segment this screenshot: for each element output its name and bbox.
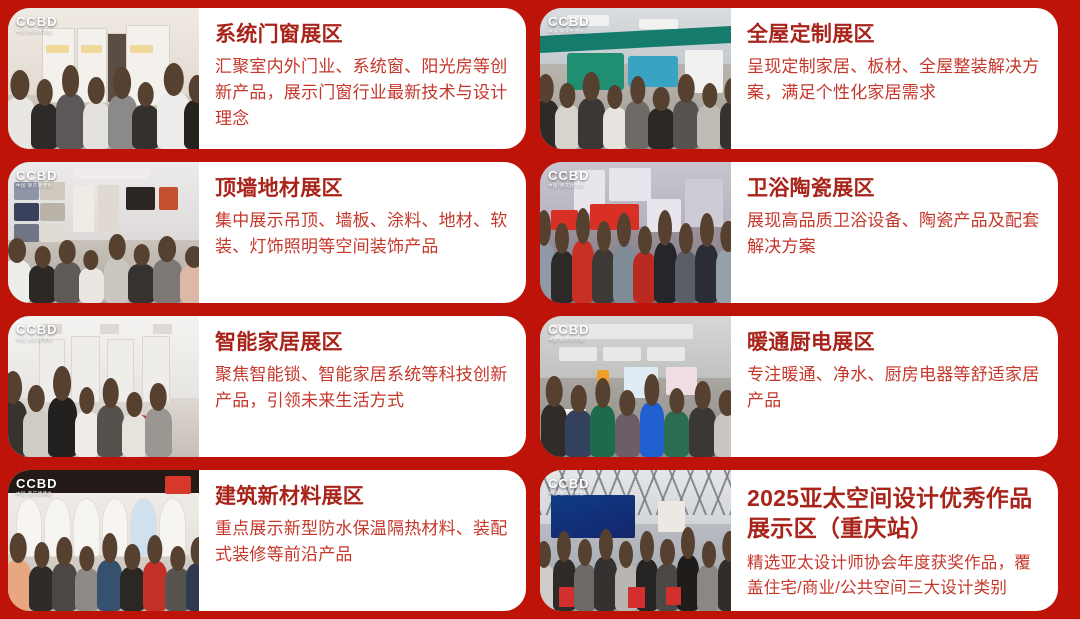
zone-title: 智能家居展区 <box>215 330 508 356</box>
red-tote-bag <box>666 587 681 605</box>
booth-photo-doors-windows: CCBD中国·重庆建博会 <box>8 8 199 149</box>
zone-text-smart-home: 智能家居展区 聚焦智能锁、智能家居系统等科技创新产品，引领未来生活方式 <box>199 316 526 457</box>
product-info-panel <box>603 347 641 361</box>
zone-thumbnail-smart-home: CCBD中国·重庆建博会 <box>8 316 199 457</box>
exhibition-zones-grid: CCBD中国·重庆建博会 系统门窗展区 汇聚室内外门业、系统窗、阳光房等创新产品… <box>0 0 1080 619</box>
zone-title: 建筑新材料展区 <box>215 484 508 510</box>
zone-title: 暖通厨电展区 <box>747 330 1040 356</box>
standing-banner <box>658 501 685 532</box>
signage-tag <box>46 45 69 53</box>
zone-text-new-building-materials: 建筑新材料展区 重点展示新型防水保温隔热材料、装配式装修等前沿产品 <box>199 470 526 611</box>
ccbd-watermark-logo: CCBD中国·重庆建博会 <box>548 477 590 497</box>
zone-title: 系统门窗展区 <box>215 22 508 48</box>
zone-description: 精选亚太设计师协会年度获奖作品，覆盖住宅/商业/公共空间三大设计类别 <box>747 551 1040 601</box>
zone-text-asia-pacific-design-awards: 2025亚太空间设计优秀作品展示区（重庆站） 精选亚太设计师协会年度获奖作品，覆… <box>731 470 1058 611</box>
red-tote-bag <box>559 587 574 607</box>
booth-sign <box>73 168 149 179</box>
zone-text-systems-doors-windows: 系统门窗展区 汇聚室内外门业、系统窗、阳光房等创新产品，展示门窗行业最新技术与设… <box>199 8 526 149</box>
zone-thumbnail-sanitary-ware-ceramics: CCBD中国·重庆建博会 <box>540 162 731 303</box>
booth-photo-new-materials: CCBD中国·重庆建博会 <box>8 470 199 611</box>
zone-card-systems-doors-windows[interactable]: CCBD中国·重庆建博会 系统门窗展区 汇聚室内外门业、系统窗、阳光房等创新产品… <box>8 8 526 149</box>
sample-swatch <box>159 187 178 210</box>
zone-card-asia-pacific-design-awards-2025[interactable]: CCBD中国·重庆建博会 2025亚太空间设计优秀作品展示区（重庆站） 精选亚太… <box>540 470 1058 611</box>
zone-description: 重点展示新型防水保温隔热材料、装配式装修等前沿产品 <box>215 516 508 568</box>
visitor-crowd <box>8 538 199 611</box>
zone-card-new-building-materials[interactable]: CCBD中国·重庆建博会 建筑新材料展区 重点展示新型防水保温隔热材料、装配式装… <box>8 470 526 611</box>
zone-thumbnail-asia-pacific-design-awards: CCBD中国·重庆建博会 <box>540 470 731 611</box>
zone-text-ceiling-wall-floor-materials: 顶墙地材展区 集中展示吊顶、墙板、涂料、地材、软装、灯饰照明等空间装饰产品 <box>199 162 526 303</box>
booth-photo-smart-home: CCBD中国·重庆建博会 <box>8 316 199 457</box>
ccbd-watermark-logo: CCBD中国·重庆建博会 <box>16 477 58 497</box>
sample-board <box>73 185 94 233</box>
zone-thumbnail-ceiling-wall-floor-materials: CCBD中国·重庆建博会 <box>8 162 199 303</box>
zone-text-hvac-kitchen-appliances: 暖通厨电展区 专注暖通、净水、厨房电器等舒适家居产品 <box>731 316 1058 457</box>
booth-wall-panel <box>609 168 651 202</box>
visitor-crowd <box>8 238 199 303</box>
booth-photo-materials: CCBD中国·重庆建博会 <box>8 162 199 303</box>
visitor-crowd <box>8 70 199 149</box>
ccbd-watermark-logo: CCBD中国·重庆建博会 <box>16 169 58 189</box>
ccbd-watermark-logo: CCBD中国·重庆建博会 <box>548 323 590 343</box>
zone-title: 全屋定制展区 <box>747 22 1040 48</box>
zone-title: 顶墙地材展区 <box>215 176 508 202</box>
booth-photo-sanitary: CCBD中国·重庆建博会 <box>540 162 731 303</box>
zone-card-smart-home[interactable]: CCBD中国·重庆建博会 智能家居展区 聚焦智能锁、智能家居系统等科技创新产品，… <box>8 316 526 457</box>
signage-tag <box>130 45 153 53</box>
zone-title: 2025亚太空间设计优秀作品展示区（重庆站） <box>747 484 1040 544</box>
red-tote-bag <box>628 587 645 608</box>
zone-description: 汇聚室内外门业、系统窗、阳光房等创新产品，展示门窗行业最新技术与设计理念 <box>215 54 508 131</box>
booth-sign <box>153 324 172 333</box>
zone-thumbnail-hvac-kitchen-appliances: CCBD中国·重庆建博会 <box>540 316 731 457</box>
booth-sign <box>100 324 119 333</box>
product-info-panel <box>559 347 597 361</box>
ccbd-watermark-logo: CCBD中国·重庆建博会 <box>16 15 58 35</box>
zone-description: 集中展示吊顶、墙板、涂料、地材、软装、灯饰照明等空间装饰产品 <box>215 208 508 260</box>
zone-description: 专注暖通、净水、厨房电器等舒适家居产品 <box>747 362 1040 414</box>
ccbd-watermark-logo: CCBD中国·重庆建博会 <box>16 323 58 343</box>
sample-swatch <box>40 203 65 221</box>
zone-card-ceiling-wall-floor-materials[interactable]: CCBD中国·重庆建博会 顶墙地材展区 集中展示吊顶、墙板、涂料、地材、软装、灯… <box>8 162 526 303</box>
visitor-crowd <box>540 381 731 457</box>
zone-thumbnail-whole-house-customization: CCBD中国·重庆建博会 <box>540 8 731 149</box>
booth-photo-hvac: CCBD中国·重庆建博会 <box>540 316 731 457</box>
zone-card-sanitary-ware-ceramics[interactable]: CCBD中国·重庆建博会 卫浴陶瓷展区 展现高品质卫浴设备、陶瓷产品及配套解决方… <box>540 162 1058 303</box>
zone-text-sanitary-ware-ceramics: 卫浴陶瓷展区 展现高品质卫浴设备、陶瓷产品及配套解决方案 <box>731 162 1058 303</box>
visitor-crowd <box>540 79 731 150</box>
red-banner <box>165 476 192 494</box>
zone-description: 展现高品质卫浴设备、陶瓷产品及配套解决方案 <box>747 208 1040 260</box>
display-screen <box>126 187 155 210</box>
booth-sign <box>639 19 677 29</box>
visitor-crowd <box>8 378 199 457</box>
zone-thumbnail-new-building-materials: CCBD中国·重庆建博会 <box>8 470 199 611</box>
forum-photo-design-awards: CCBD中国·重庆建博会 <box>540 470 731 611</box>
signage-tag <box>81 45 102 53</box>
booth-photo-whole-house: CCBD中国·重庆建博会 <box>540 8 731 149</box>
zone-text-whole-house-customization: 全屋定制展区 呈现定制家居、板材、全屋整装解决方案，满足个性化家居需求 <box>731 8 1058 149</box>
zone-card-hvac-kitchen-appliances[interactable]: CCBD中国·重庆建博会 暖通厨电展区 专注暖通、净水、厨房电器等舒适家居产品 <box>540 316 1058 457</box>
visitor-crowd <box>540 218 731 303</box>
zone-thumbnail-systems-doors-windows: CCBD中国·重庆建博会 <box>8 8 199 149</box>
product-info-panel <box>647 347 685 361</box>
zone-description: 呈现定制家居、板材、全屋整装解决方案，满足个性化家居需求 <box>747 54 1040 106</box>
ccbd-watermark-logo: CCBD中国·重庆建博会 <box>548 15 590 35</box>
zone-description: 聚焦智能锁、智能家居系统等科技创新产品，引领未来生活方式 <box>215 362 508 414</box>
ccbd-watermark-logo: CCBD中国·重庆建博会 <box>548 169 590 189</box>
zone-title: 卫浴陶瓷展区 <box>747 176 1040 202</box>
sample-board <box>98 185 119 233</box>
sample-swatch <box>14 203 39 221</box>
zone-card-whole-house-customization[interactable]: CCBD中国·重庆建博会 全屋定制展区 呈现定制家居、板材、全屋整装解决方案，满… <box>540 8 1058 149</box>
